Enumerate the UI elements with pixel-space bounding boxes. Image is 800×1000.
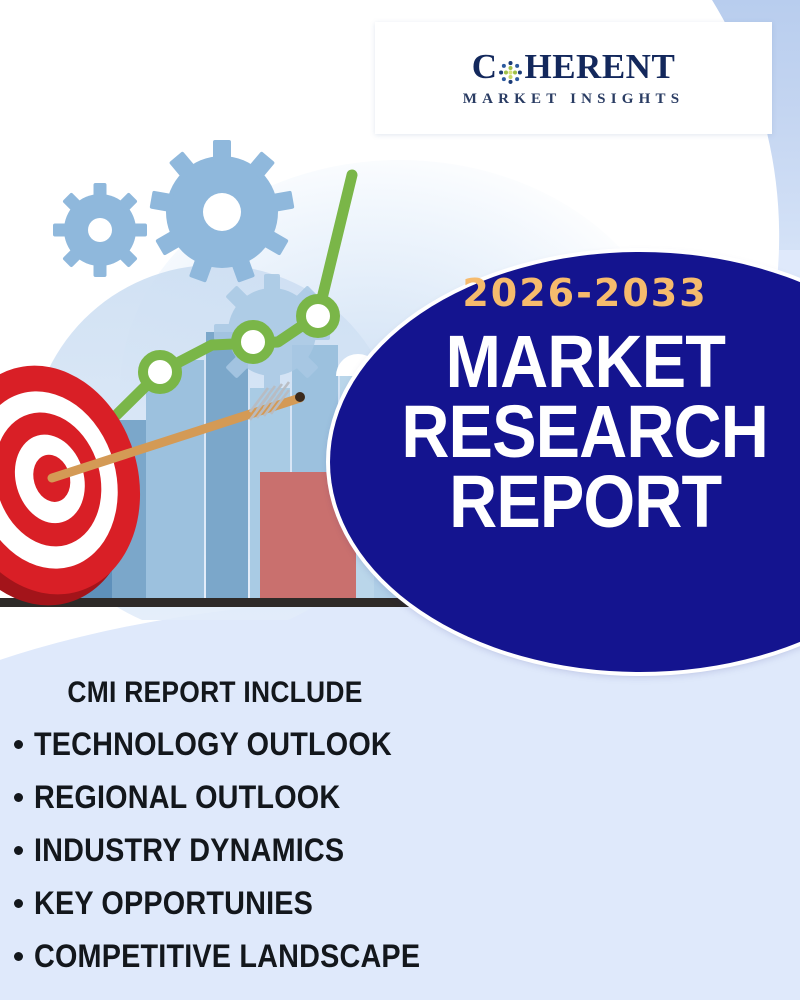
gear-small-icon [53,183,147,277]
bullet-dot-icon [14,899,23,908]
brand-logo-subtitle: MARKET INSIGHTS [463,91,685,108]
bullet-dot-icon [14,846,23,855]
hero-year-range: 2026-2033 [462,274,707,314]
include-heading: CMI REPORT INCLUDE [26,676,404,710]
bullet-dot-icon [14,793,23,802]
list-item-label: INDUSTRY DYNAMICS [34,834,344,866]
hero-title-block: 2026-2033 MARKET RESEARCH REPORT [405,268,765,658]
list-item: REGIONAL OUTLOOK [14,781,534,813]
list-item: COMPETITIVE LANDSCAPE [14,940,534,972]
list-item: TECHNOLOGY OUTLOOK [14,728,534,760]
list-item-label: KEY OPPORTUNIES [34,887,313,919]
bullet-dot-icon [14,952,23,961]
hero-title-line-1: MARKET [445,328,724,396]
bullet-dot-icon [14,740,23,749]
list-item-label: REGIONAL OUTLOOK [34,781,340,813]
brand-logo-wordmark: C [472,49,676,84]
brand-logo-card: C [375,22,772,134]
poster-canvas: C [0,0,800,1000]
include-list: TECHNOLOGY OUTLOOK REGIONAL OUTLOOK INDU… [14,728,534,993]
list-item-label: COMPETITIVE LANDSCAPE [34,940,420,972]
list-item: KEY OPPORTUNIES [14,887,534,919]
hero-title-line-3: REPORT [449,468,721,536]
brand-logo-letters-herent: HERENT [524,49,675,84]
gear-large-icon [150,140,295,283]
hero-title-line-2: RESEARCH [402,398,769,466]
list-item: INDUSTRY DYNAMICS [14,834,534,866]
brand-logo-letter-c: C [472,49,498,84]
list-item-label: TECHNOLOGY OUTLOOK [34,728,392,760]
dotted-circle-o-icon [498,56,523,81]
